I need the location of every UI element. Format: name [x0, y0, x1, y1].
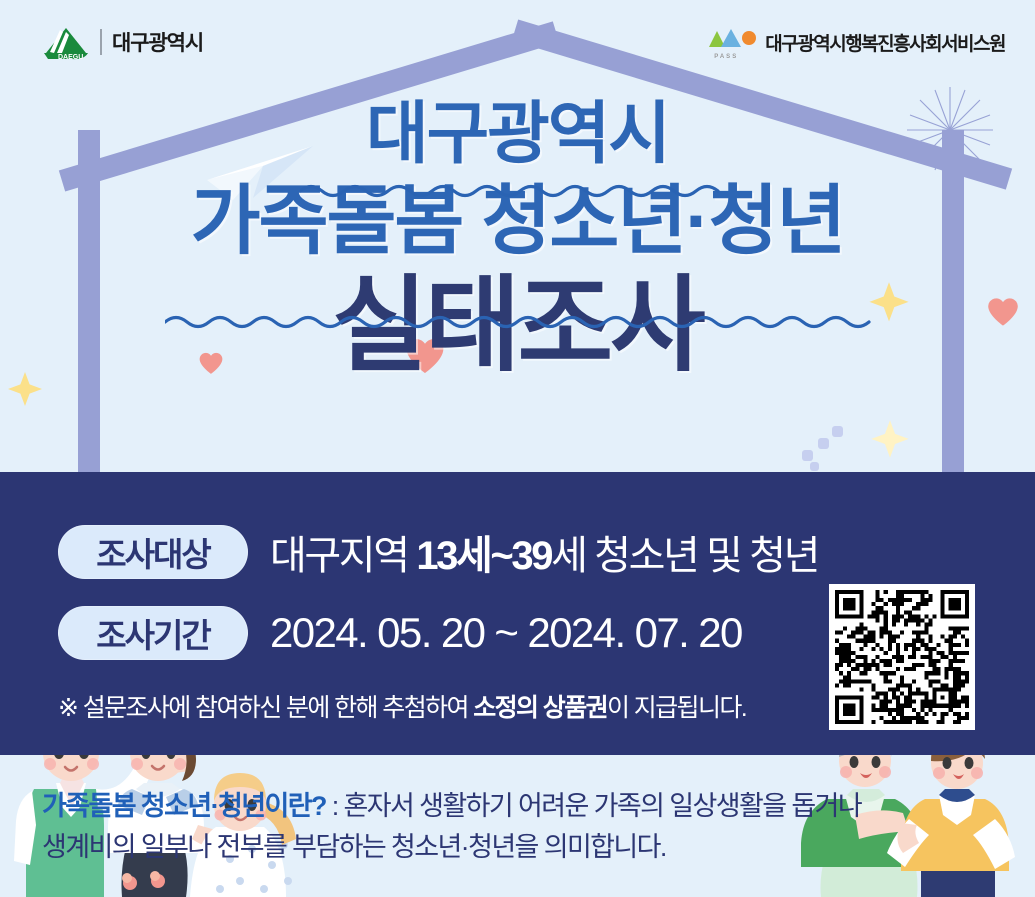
survey-target-pill: 조사대상: [58, 525, 248, 579]
svg-text:DAEGU: DAEGU: [58, 54, 83, 60]
daegu-city-label: 대구광역시: [112, 27, 203, 57]
note-suffix: 이 지급됩니다.: [607, 694, 746, 722]
note-mark: ※: [58, 694, 77, 722]
title-line-1: 대구광역시: [0, 100, 1035, 168]
note-emphasis: 소정의 상품권: [473, 694, 607, 722]
target-suffix: 세 청소년 및 청년: [551, 534, 818, 578]
poster-title: 대구광역시 가족돌봄 청소년·청년 실태조사: [0, 100, 1035, 378]
footer-line-1: 가족돌봄 청소년·청년이란? : 혼자서 생활하기 어려운 가족의 일상생활을 …: [42, 786, 1012, 827]
poster-root: 대구광역시 가족돌봄 청소년·청년 실태조사: [0, 0, 1035, 897]
survey-note: ※ 설문조사에 참여하신 분에 한해 추첨하여 소정의 상품권이 지급됩니다.: [58, 688, 746, 724]
pass-institute-logo: PASS 대구광역시행복진흥사회서비스원: [708, 27, 1005, 57]
survey-period-row: 조사기간 2024. 05. 20 ~ 2024. 07. 20: [58, 606, 742, 660]
note-prefix: 설문조사에 참여하신 분에 한해 추첨하여: [77, 694, 473, 722]
footer-description: 가족돌봄 청소년·청년이란? : 혼자서 생활하기 어려운 가족의 일상생활을 …: [42, 786, 1012, 867]
daegu-mountain-icon: DAEGU: [42, 26, 90, 58]
pass-wordmark: PASS: [714, 54, 738, 60]
survey-target-text: 대구지역 13세~39세 청소년 및 청년: [270, 523, 818, 581]
survey-period-pill: 조사기간: [58, 606, 248, 660]
footer-question: 가족돌봄 청소년·청년이란?: [42, 791, 326, 821]
survey-target-row: 조사대상 대구지역 13세~39세 청소년 및 청년: [58, 523, 818, 581]
survey-period-value: 2024. 05. 20 ~ 2024. 07. 20: [270, 609, 742, 657]
header: DAEGU 대구광역시 PASS 대구광역시행복진흥사회서비스원: [0, 0, 1035, 78]
target-prefix: 대구지역: [270, 534, 416, 578]
footer-body-1: : 혼자서 생활하기 어려운 가족의 일상생활을 돕거나: [326, 791, 861, 821]
footer-line-2: 생계비의 일부나 전부를 부담하는 청소년·청년을 의미합니다.: [42, 827, 1012, 868]
survey-qr-code[interactable]: [829, 584, 975, 730]
logo-divider: [100, 29, 102, 55]
wavy-underline: [165, 313, 875, 331]
star-icon: [868, 418, 912, 462]
target-emphasis: 13세~39: [416, 534, 551, 578]
daegu-city-logo: DAEGU 대구광역시: [42, 26, 203, 58]
wavy-underline: [300, 182, 730, 200]
pass-institute-label: 대구광역시행복진흥사회서비스원: [765, 29, 1005, 56]
confetti-dots: [800, 424, 852, 472]
pass-icon: PASS: [708, 27, 756, 57]
